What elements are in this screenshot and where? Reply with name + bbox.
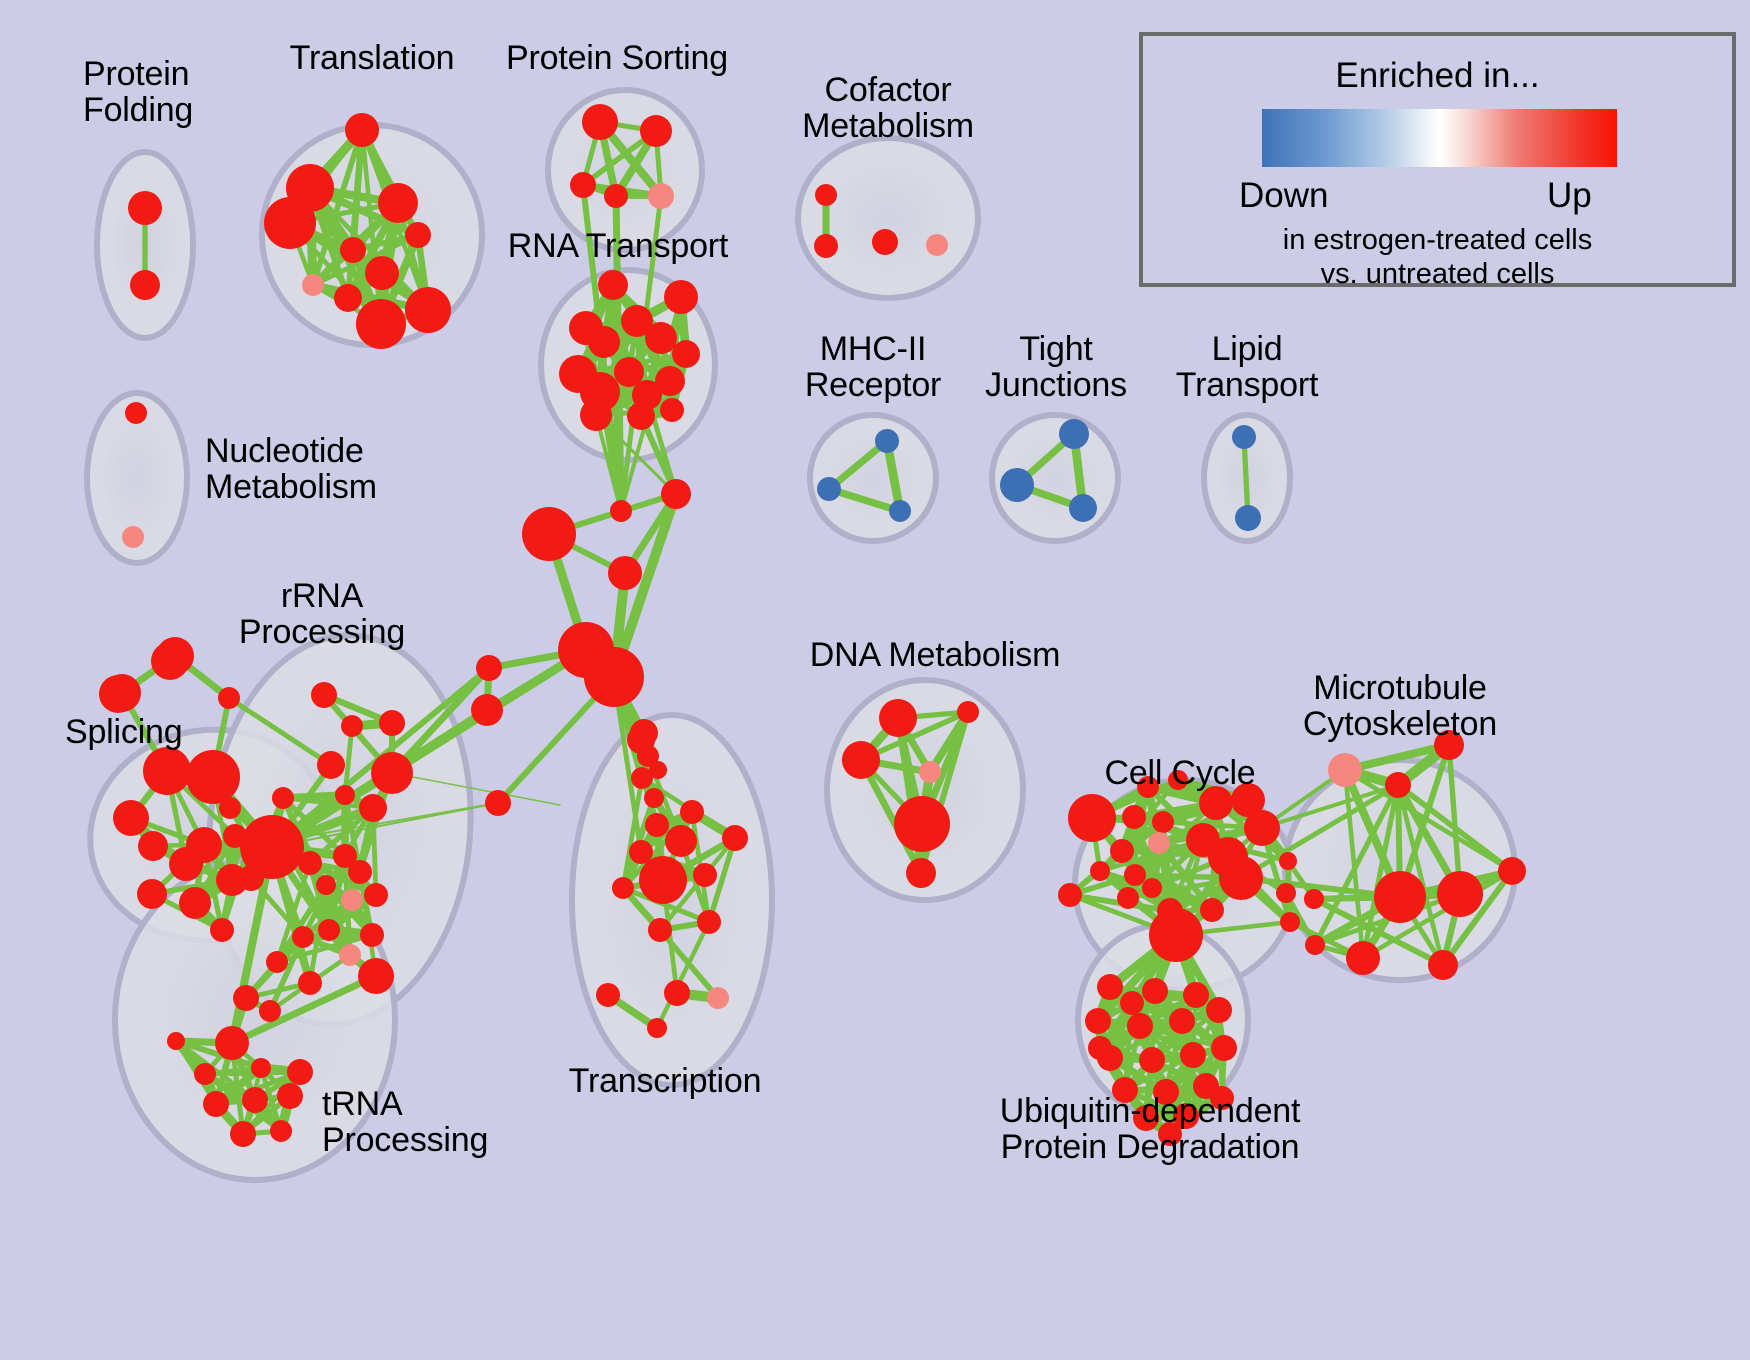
network-node bbox=[1085, 1008, 1111, 1034]
network-node bbox=[302, 274, 324, 296]
cluster-label-lipid-transport: LipidTransport bbox=[1176, 331, 1318, 403]
network-node bbox=[138, 831, 168, 861]
network-node bbox=[664, 980, 690, 1006]
network-node bbox=[215, 1026, 249, 1060]
network-node bbox=[1000, 468, 1034, 502]
network-node bbox=[875, 429, 899, 453]
network-node bbox=[817, 477, 841, 501]
network-node bbox=[364, 883, 388, 907]
network-node bbox=[1385, 772, 1411, 798]
network-node bbox=[1069, 494, 1097, 522]
network-node bbox=[1142, 978, 1168, 1004]
network-node bbox=[233, 985, 259, 1011]
network-node bbox=[1122, 805, 1146, 829]
network-node bbox=[1280, 912, 1300, 932]
network-node bbox=[1088, 1036, 1112, 1060]
cluster-label-cell-cycle: Cell Cycle bbox=[1104, 755, 1255, 791]
network-node bbox=[1169, 1008, 1195, 1034]
network-node bbox=[814, 234, 838, 258]
network-node bbox=[570, 172, 596, 198]
cluster-label-transcription: Transcription bbox=[569, 1063, 762, 1099]
legend-subtitle-line2: vs. untreated cells bbox=[1143, 258, 1732, 291]
network-node bbox=[645, 813, 669, 837]
network-node bbox=[230, 1121, 256, 1147]
network-node bbox=[471, 694, 503, 726]
network-node bbox=[644, 788, 664, 808]
cluster-label-cofactor-metabolism: CofactorMetabolism bbox=[802, 72, 974, 144]
network-node bbox=[143, 747, 191, 795]
network-node bbox=[919, 761, 941, 783]
network-node bbox=[639, 856, 687, 904]
network-node bbox=[1305, 935, 1325, 955]
network-node bbox=[879, 699, 917, 737]
cluster-label-splicing: Splicing bbox=[65, 714, 182, 750]
network-node bbox=[1200, 898, 1224, 922]
network-node bbox=[113, 800, 149, 836]
network-node bbox=[1124, 864, 1146, 886]
network-node bbox=[648, 183, 674, 209]
network-node bbox=[125, 402, 147, 424]
network-node bbox=[604, 184, 628, 208]
network-node bbox=[365, 256, 399, 290]
cluster-label-dna-metabolism: DNA Metabolism bbox=[810, 637, 1060, 673]
network-node bbox=[1180, 1042, 1206, 1068]
network-node bbox=[1127, 1013, 1153, 1039]
network-node bbox=[405, 222, 431, 248]
network-node bbox=[707, 987, 729, 1009]
network-node bbox=[664, 280, 698, 314]
network-node bbox=[1183, 982, 1209, 1008]
network-node bbox=[660, 398, 684, 422]
network-node bbox=[1090, 861, 1110, 881]
network-node bbox=[649, 761, 667, 779]
network-node bbox=[345, 113, 379, 147]
network-node bbox=[1328, 753, 1362, 787]
network-node bbox=[1110, 839, 1134, 863]
network-node bbox=[1374, 871, 1426, 923]
legend-subtitle-line1: in estrogen-treated cells bbox=[1143, 224, 1732, 257]
network-node bbox=[259, 1000, 281, 1022]
network-node bbox=[218, 687, 240, 709]
network-node bbox=[242, 1087, 268, 1113]
network-node bbox=[317, 751, 345, 779]
network-node bbox=[693, 863, 717, 887]
network-node bbox=[1068, 794, 1116, 842]
network-node bbox=[680, 800, 704, 824]
cluster-label-protein-sorting: Protein Sorting bbox=[506, 40, 728, 76]
network-node bbox=[1276, 883, 1296, 903]
network-node bbox=[647, 1018, 667, 1038]
network-node bbox=[648, 918, 672, 942]
network-node bbox=[339, 944, 361, 966]
network-node bbox=[645, 322, 677, 354]
network-node bbox=[476, 655, 502, 681]
network-node bbox=[906, 858, 936, 888]
network-node bbox=[1206, 997, 1232, 1023]
network-node bbox=[815, 184, 837, 206]
network-node bbox=[186, 827, 222, 863]
network-figure: ProteinFolding Translation NucleotideMet… bbox=[0, 0, 1750, 1360]
network-node bbox=[665, 825, 697, 857]
network-node bbox=[251, 1058, 271, 1078]
network-node bbox=[335, 785, 355, 805]
network-node bbox=[640, 115, 672, 147]
network-node bbox=[1058, 883, 1082, 907]
network-node bbox=[485, 790, 511, 816]
network-node bbox=[186, 750, 240, 804]
network-node bbox=[1117, 887, 1139, 909]
network-node bbox=[378, 183, 418, 223]
network-node bbox=[1235, 505, 1261, 531]
legend-up-label: Up bbox=[1547, 176, 1592, 216]
network-node bbox=[122, 526, 144, 548]
network-node bbox=[697, 910, 721, 934]
network-node bbox=[1059, 419, 1089, 449]
network-node bbox=[371, 752, 413, 794]
network-node bbox=[522, 507, 576, 561]
network-node bbox=[277, 1083, 303, 1109]
network-node bbox=[1232, 425, 1256, 449]
network-node bbox=[722, 825, 748, 851]
network-node bbox=[318, 919, 340, 941]
network-node bbox=[270, 1120, 292, 1142]
network-node bbox=[128, 191, 162, 225]
network-node bbox=[130, 270, 160, 300]
network-node bbox=[926, 234, 948, 256]
network-node bbox=[584, 647, 644, 707]
network-node bbox=[608, 556, 642, 590]
network-node bbox=[627, 402, 655, 430]
network-node bbox=[596, 983, 620, 1007]
network-node bbox=[292, 926, 314, 948]
cluster-label-protein-folding: ProteinFolding bbox=[83, 56, 193, 128]
network-node bbox=[356, 299, 406, 349]
cluster-label-nucleotide-metabolism: NucleotideMetabolism bbox=[205, 433, 377, 505]
network-node bbox=[298, 971, 322, 995]
network-node bbox=[341, 889, 363, 911]
network-node bbox=[358, 958, 394, 994]
cluster-label-translation: Translation bbox=[290, 40, 455, 76]
network-node bbox=[1149, 908, 1203, 962]
network-node bbox=[612, 877, 634, 899]
network-node bbox=[194, 1063, 216, 1085]
network-node bbox=[1152, 811, 1174, 833]
network-node bbox=[316, 875, 336, 895]
network-node bbox=[1304, 889, 1324, 909]
network-node bbox=[379, 710, 405, 736]
network-node bbox=[405, 287, 451, 333]
network-node bbox=[1428, 950, 1458, 980]
network-node bbox=[598, 270, 628, 300]
network-node bbox=[151, 642, 189, 680]
network-node bbox=[630, 719, 658, 747]
network-node bbox=[672, 340, 700, 368]
cluster-label-trna-processing: tRNAProcessing bbox=[322, 1086, 488, 1158]
network-node bbox=[1211, 1035, 1237, 1061]
cluster-label-ubiquitin-protein-degradation: Ubiquitin-dependentProtein Degradation bbox=[1000, 1093, 1301, 1165]
network-node bbox=[580, 399, 612, 431]
cluster-label-tight-junctions: TightJunctions bbox=[985, 331, 1127, 403]
network-node bbox=[311, 682, 337, 708]
network-node bbox=[272, 787, 294, 809]
network-node bbox=[1142, 878, 1162, 898]
network-node bbox=[1148, 832, 1170, 854]
network-node bbox=[588, 326, 620, 358]
network-node bbox=[334, 284, 362, 312]
legend-down-label: Down bbox=[1239, 176, 1328, 216]
cluster-label-microtubule-cytoskeleton: MicrotubuleCytoskeleton bbox=[1303, 670, 1497, 742]
network-node bbox=[238, 865, 264, 891]
network-node bbox=[210, 918, 234, 942]
legend-box: Enriched in... Down Up in estrogen-treat… bbox=[1139, 32, 1736, 287]
network-node bbox=[99, 675, 137, 713]
network-node bbox=[872, 229, 898, 255]
legend-title: Enriched in... bbox=[1143, 56, 1732, 96]
network-node bbox=[264, 197, 316, 249]
network-node bbox=[1279, 852, 1297, 870]
network-node bbox=[610, 500, 632, 522]
network-node bbox=[1139, 1047, 1165, 1073]
network-node bbox=[167, 1032, 185, 1050]
network-node bbox=[894, 796, 950, 852]
network-node bbox=[341, 715, 363, 737]
network-node bbox=[219, 797, 241, 819]
network-node bbox=[957, 701, 979, 723]
network-node bbox=[359, 794, 387, 822]
legend-color-gradient-bar bbox=[1262, 109, 1617, 167]
network-node bbox=[203, 1091, 229, 1117]
network-node bbox=[1219, 856, 1263, 900]
network-node bbox=[1097, 974, 1123, 1000]
network-node bbox=[661, 479, 691, 509]
network-node bbox=[137, 879, 167, 909]
cluster-label-mhc-ii-receptor: MHC-IIReceptor bbox=[805, 331, 941, 403]
network-node bbox=[348, 860, 372, 884]
network-node bbox=[1244, 810, 1280, 846]
network-node bbox=[889, 500, 911, 522]
network-node bbox=[360, 923, 384, 947]
network-node bbox=[1437, 871, 1483, 917]
network-node bbox=[1346, 941, 1380, 975]
network-node bbox=[287, 1059, 313, 1085]
network-node bbox=[340, 237, 366, 263]
network-node bbox=[842, 741, 880, 779]
network-node bbox=[1498, 857, 1526, 885]
cluster-ellipse-protein-sorting bbox=[548, 90, 702, 250]
network-node bbox=[582, 104, 618, 140]
cluster-label-rna-transport: RNA Transport bbox=[508, 228, 728, 264]
cluster-label-rrna-processing: rRNAProcessing bbox=[239, 578, 405, 650]
network-node bbox=[1120, 991, 1144, 1015]
network-node bbox=[179, 887, 211, 919]
network-node bbox=[266, 951, 288, 973]
